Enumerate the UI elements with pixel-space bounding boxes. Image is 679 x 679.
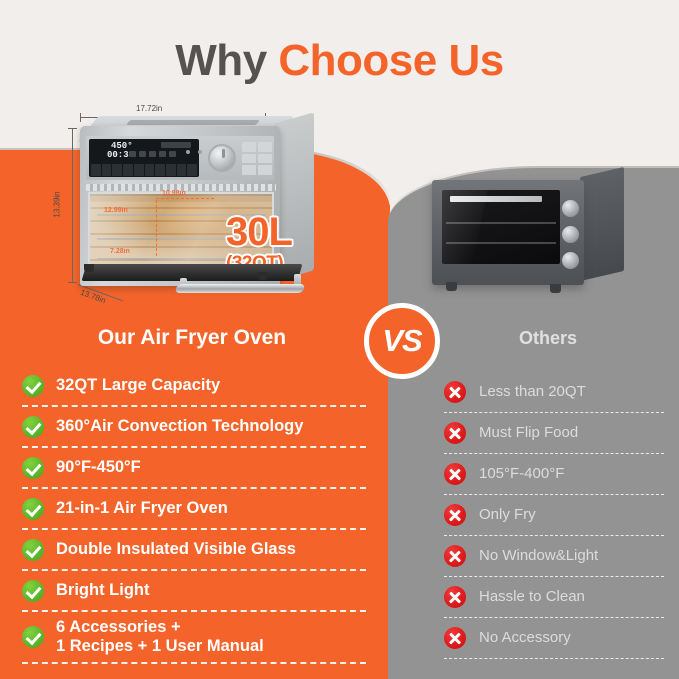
dim-width-cap-left (80, 113, 81, 122)
lcd-function-key (166, 164, 176, 176)
feature-label: 360°Air Convection Technology (56, 417, 303, 436)
lcd-function-key (91, 164, 101, 176)
lcd-mode-icon (129, 151, 136, 157)
check-icon (22, 375, 44, 397)
panel-led-indicator (186, 150, 190, 154)
check-icon (22, 580, 44, 602)
others-oven-knob-top (562, 200, 579, 217)
lcd-function-key (177, 164, 187, 176)
others-oven-knob-bottom (562, 252, 579, 269)
lcd-function-key (102, 164, 112, 176)
cross-icon (444, 627, 466, 649)
cross-icon (444, 545, 466, 567)
list-item: Less than 20QT (444, 372, 664, 413)
preset-button (242, 154, 256, 164)
dim-height-cap-top (68, 128, 77, 129)
feature-label: Double Insulated Visible Glass (56, 540, 296, 559)
lcd-mode-icon (139, 151, 146, 157)
list-item: Only Fry (444, 495, 664, 536)
feature-label: Only Fry (479, 506, 536, 523)
cross-icon (444, 463, 466, 485)
others-oven-foot-right (550, 284, 561, 293)
list-item: 21-in-1 Air Fryer Oven (22, 489, 366, 530)
feature-label: No Window&Light (479, 547, 598, 564)
feature-label: 6 Accessories + 1 Recipes + 1 User Manua… (56, 618, 264, 656)
oven-top-seam (126, 120, 260, 125)
page-title: Why Choose Us (0, 36, 679, 86)
list-item: 105°F-400°F (444, 454, 664, 495)
cross-icon (444, 504, 466, 526)
feature-list-ours: 32QT Large Capacity 360°Air Convection T… (22, 366, 366, 664)
lcd-mode-icon (149, 151, 156, 157)
lcd-display: 450° 00:30 (89, 139, 199, 177)
others-oven-glass-door (442, 190, 560, 264)
lcd-mode-icon (159, 151, 166, 157)
preset-button (258, 165, 272, 175)
dim-height-label: 13.39in (53, 191, 62, 217)
dim-height-line (72, 128, 73, 283)
oven-foot-left (84, 264, 94, 272)
vs-badge: VS (364, 303, 440, 379)
feature-label: Less than 20QT (479, 383, 586, 400)
check-icon (22, 626, 44, 648)
control-panel: 450° 00:30 (86, 136, 274, 180)
control-knob (208, 144, 236, 172)
others-oven-right-side (580, 167, 624, 281)
dim-height-cap-bottom (68, 282, 77, 283)
list-item: 32QT Large Capacity (22, 366, 366, 407)
list-item: Hassle to Clean (444, 577, 664, 618)
cross-icon (444, 381, 466, 403)
list-item: 360°Air Convection Technology (22, 407, 366, 448)
dim-width-label: 17.72in (136, 104, 162, 113)
feature-label: 32QT Large Capacity (56, 376, 220, 395)
list-item: Bright Light (22, 571, 366, 612)
check-icon (22, 416, 44, 438)
lcd-function-key (123, 164, 133, 176)
others-oven-knob-middle (562, 226, 579, 243)
infographic-page: Why Choose Us 17.72in 13.39in 13.78in 45… (0, 0, 679, 679)
feature-label: 21-in-1 Air Fryer Oven (56, 499, 228, 518)
lcd-button-row (91, 162, 197, 176)
capacity-liters: 30L (226, 212, 292, 252)
lcd-function-key (187, 164, 197, 176)
list-item: No Window&Light (444, 536, 664, 577)
feature-label: Bright Light (56, 581, 149, 600)
others-oven-illustration (432, 170, 642, 295)
feature-list-others: Less than 20QT Must Flip Food 105°F-400°… (444, 372, 664, 659)
check-icon (22, 539, 44, 561)
list-item: 90°F-450°F (22, 448, 366, 489)
feature-label: Hassle to Clean (479, 588, 585, 605)
page-title-part-1: Why (175, 36, 278, 85)
list-item: Must Flip Food (444, 413, 664, 454)
lcd-function-key (112, 164, 122, 176)
page-title-part-2: Choose Us (278, 36, 503, 85)
vs-badge-label: VS (382, 323, 421, 359)
list-item: Double Insulated Visible Glass (22, 530, 366, 571)
interior-height-label: 7.28in (110, 248, 130, 255)
check-icon (22, 457, 44, 479)
cross-icon (444, 422, 466, 444)
feature-label: 105°F-400°F (479, 465, 564, 482)
others-oven-foot-left (446, 282, 457, 291)
interior-width-label: 12.99in (104, 207, 128, 214)
lcd-indicator-bar (161, 142, 191, 148)
list-item: No Accessory (444, 618, 664, 659)
preset-button-grid (242, 142, 272, 175)
preset-button (258, 142, 272, 152)
lcd-function-key (145, 164, 155, 176)
feature-label: 90°F-450°F (56, 458, 141, 477)
preset-button (242, 165, 256, 175)
others-glass-reflection (442, 190, 488, 264)
check-icon (22, 498, 44, 520)
feature-label: No Accessory (479, 629, 571, 646)
lcd-function-key (134, 164, 144, 176)
preset-button (242, 142, 256, 152)
cross-icon (444, 586, 466, 608)
our-oven-illustration: 17.72in 13.39in 13.78in 450° 00:30 (58, 108, 358, 308)
feature-label: Must Flip Food (479, 424, 578, 441)
lcd-function-key (155, 164, 165, 176)
knob-marker (222, 149, 225, 158)
column-title-others: Others (448, 328, 648, 349)
preset-button (258, 154, 272, 164)
lcd-mode-icon (169, 151, 176, 157)
interior-width-line (156, 200, 157, 256)
interior-depth-label: 10.98in (162, 190, 186, 197)
column-title-ours: Our Air Fryer Oven (22, 326, 362, 350)
oven-door-handle (175, 284, 306, 293)
panel-led-indicator (198, 150, 202, 154)
interior-depth-line (156, 198, 214, 199)
oven-foot-right (258, 272, 268, 280)
list-item: 6 Accessories + 1 Recipes + 1 User Manua… (22, 612, 366, 664)
oven-open-door-panel (82, 264, 303, 281)
